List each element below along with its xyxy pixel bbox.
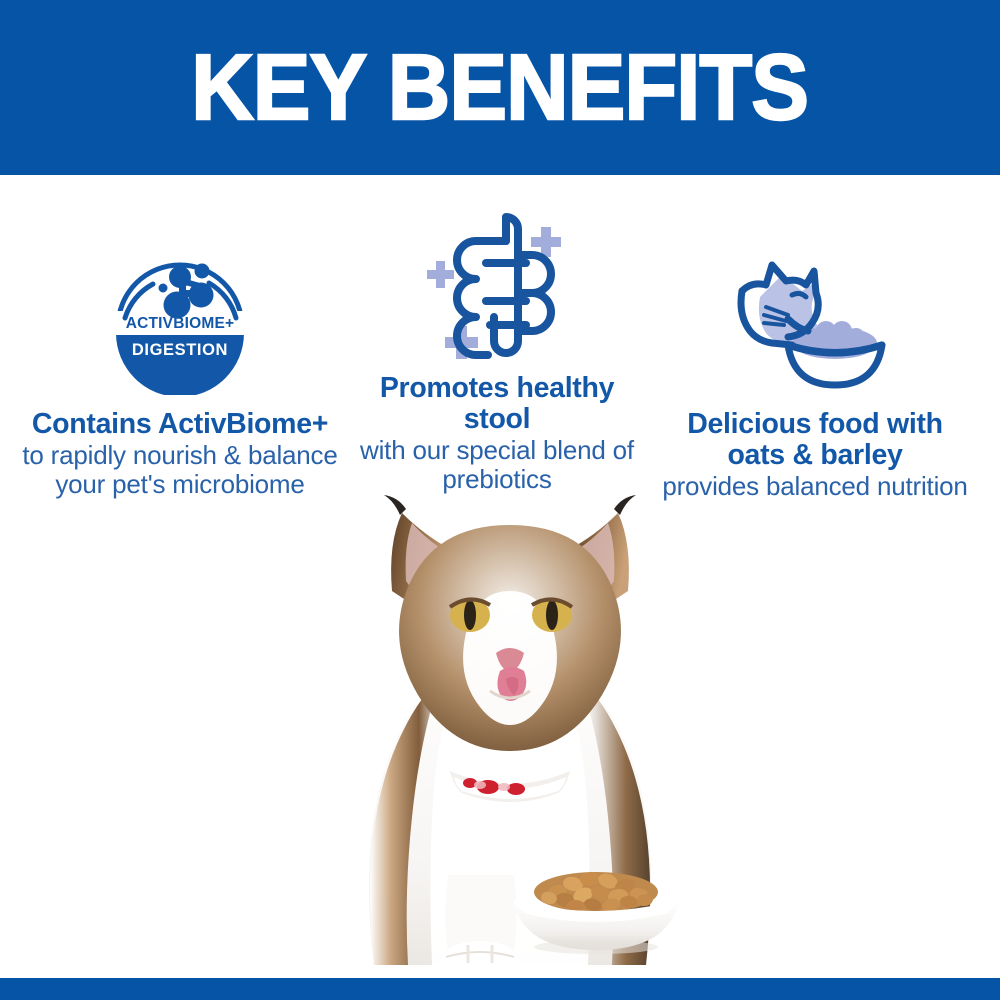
badge-top-label: ACTIVBIOME+ bbox=[126, 315, 235, 332]
benefit-title: Contains ActivBiome+ bbox=[20, 409, 340, 440]
activbiome-digestion-badge-icon: ACTIVBIOME+ DIGESTION bbox=[20, 255, 340, 395]
header-banner: KEY BENEFITS bbox=[0, 0, 1000, 175]
benefit-item-healthy-stool: Promotes healthy stool with our special … bbox=[352, 205, 642, 494]
kibble-bowl-photo bbox=[505, 862, 687, 954]
benefit-subtitle: provides balanced nutrition bbox=[655, 472, 975, 501]
cat-eating-bowl-icon bbox=[655, 255, 975, 395]
benefit-subtitle: to rapidly nourish & balance your pet's … bbox=[20, 441, 340, 499]
key-benefits-infographic: KEY BENEFITS bbox=[0, 0, 1000, 1000]
badge-bottom-label: DIGESTION bbox=[132, 341, 228, 359]
benefit-item-activbiome: ACTIVBIOME+ DIGESTION Contains ActivBiom… bbox=[20, 255, 340, 499]
page-title: KEY BENEFITS bbox=[192, 41, 809, 134]
benefit-subtitle: with our special blend of prebiotics bbox=[352, 436, 642, 494]
benefit-title: Delicious food with oats & barley bbox=[655, 409, 975, 471]
benefit-item-oats-barley: Delicious food with oats & barley provid… bbox=[655, 255, 975, 501]
benefit-title: Promotes healthy stool bbox=[352, 373, 642, 435]
footer-bar bbox=[0, 978, 1000, 1000]
intestine-gut-icon bbox=[352, 205, 642, 365]
